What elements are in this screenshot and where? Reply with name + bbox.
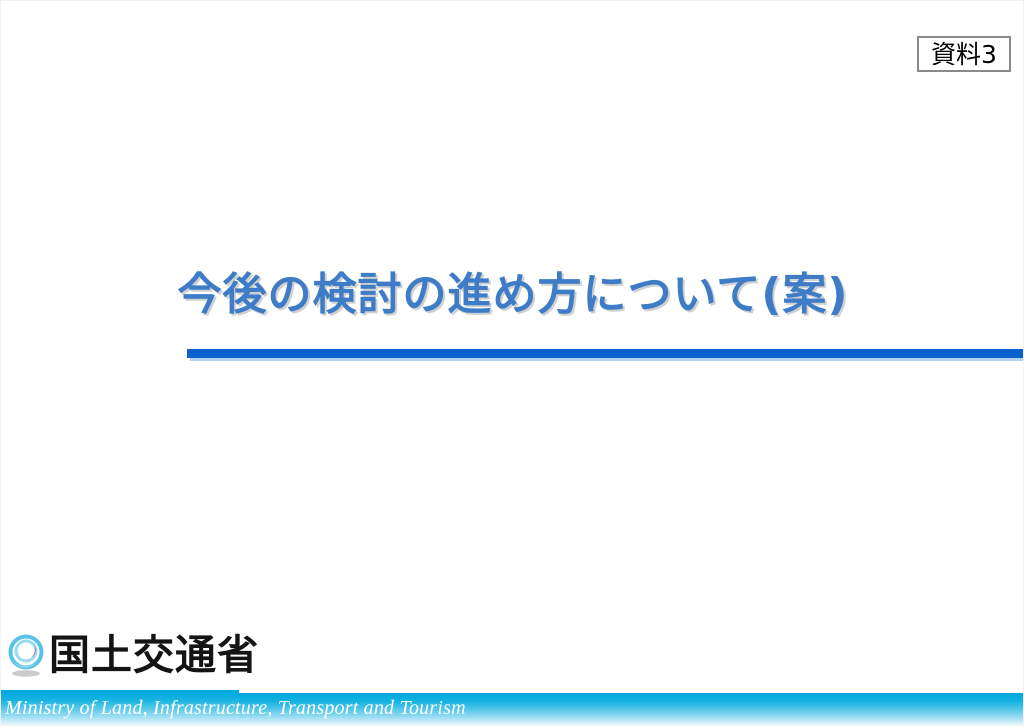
title-underline-rule-shadow bbox=[190, 358, 1024, 361]
title-underline-rule bbox=[187, 349, 1024, 358]
title-block: 今後の検討の進め方について(案) bbox=[1, 263, 1024, 363]
slide-canvas: 資料3 今後の検討の進め方について(案) 国土交通省 Ministry of L… bbox=[0, 0, 1024, 726]
document-number-badge: 資料3 bbox=[917, 36, 1011, 72]
footer: 国土交通省 Ministry of Land, Infrastructure, … bbox=[1, 629, 1024, 725]
page-title: 今後の検討の進め方について(案) bbox=[1, 263, 1024, 327]
ministry-name-english: Ministry of Land, Infrastructure, Transp… bbox=[5, 695, 466, 721]
ministry-name-japanese: 国土交通省 bbox=[49, 631, 259, 679]
document-number-label: 資料3 bbox=[931, 42, 997, 67]
mlit-emblem-icon bbox=[3, 631, 51, 679]
